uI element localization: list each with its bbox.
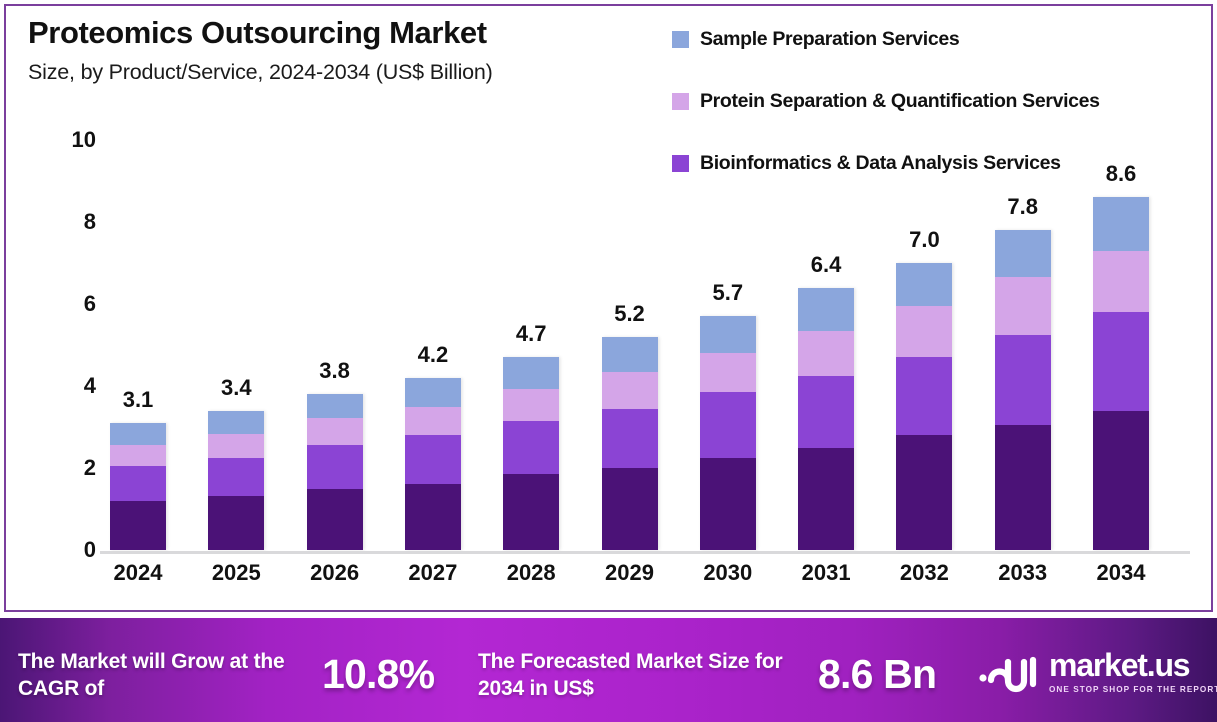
bar-segment[interactable] xyxy=(405,435,461,484)
forecast-label: The Forecasted Market Size for 2034 in U… xyxy=(478,648,788,703)
y-axis-tick-label: 6 xyxy=(30,291,96,317)
x-axis-tick-label: 2033 xyxy=(995,560,1051,586)
x-axis-tick-label: 2024 xyxy=(110,560,166,586)
bar-segment[interactable] xyxy=(700,458,756,550)
bar-segment[interactable] xyxy=(503,474,559,550)
legend-item-label: Sample Preparation Services xyxy=(700,28,959,51)
y-axis-tick-label: 0 xyxy=(30,537,96,563)
cagr-label: The Market will Grow at the CAGR of xyxy=(18,648,288,703)
page-title: Proteomics Outsourcing Market xyxy=(28,16,668,51)
bar-segment[interactable] xyxy=(896,357,952,435)
bar-segment[interactable] xyxy=(995,335,1051,425)
bar-segment[interactable] xyxy=(798,376,854,448)
bar-segment[interactable] xyxy=(208,458,264,496)
bar-segment[interactable] xyxy=(798,331,854,376)
bar-segment[interactable] xyxy=(896,435,952,550)
y-axis-tick-label: 10 xyxy=(30,127,96,153)
bar-stack[interactable] xyxy=(602,337,658,550)
plot-area: 3.13.43.84.24.75.25.76.47.07.88.6 xyxy=(100,140,1190,552)
bar-segment[interactable] xyxy=(798,288,854,331)
bar-segment[interactable] xyxy=(503,389,559,421)
bar-value-label: 3.1 xyxy=(123,387,154,413)
x-axis-tick-label: 2029 xyxy=(602,560,658,586)
bar-value-label: 4.2 xyxy=(418,342,449,368)
bar-segment[interactable] xyxy=(602,337,658,373)
bar-value-label: 3.4 xyxy=(221,375,252,401)
logo-tagline: ONE STOP SHOP FOR THE REPORTS xyxy=(1049,685,1217,694)
bar-segment[interactable] xyxy=(1093,411,1149,550)
bar-segment[interactable] xyxy=(995,277,1051,334)
bar-value-label: 5.2 xyxy=(614,301,645,327)
logo-wordmark: market.us xyxy=(1049,649,1217,681)
y-axis-labels: 0246810 xyxy=(30,140,96,550)
x-axis-tick-label: 2034 xyxy=(1093,560,1149,586)
bar-value-label: 3.8 xyxy=(319,358,350,384)
x-axis-tick-label: 2026 xyxy=(307,560,363,586)
bar-stack[interactable] xyxy=(700,316,756,550)
summary-banner: The Market will Grow at the CAGR of 10.8… xyxy=(0,618,1217,722)
x-axis-baseline xyxy=(100,551,1190,554)
bar-segment[interactable] xyxy=(208,434,264,458)
bar-stack[interactable] xyxy=(405,378,461,550)
bar-segment[interactable] xyxy=(798,448,854,551)
bar-segment[interactable] xyxy=(700,392,756,458)
bar-stack[interactable] xyxy=(110,423,166,550)
bar-segment[interactable] xyxy=(110,423,166,445)
bar-segment[interactable] xyxy=(110,466,166,501)
x-axis-tick-label: 2032 xyxy=(896,560,952,586)
brand-logo: market.us ONE STOP SHOP FOR THE REPORTS xyxy=(978,648,1217,694)
x-axis-tick-label: 2025 xyxy=(208,560,264,586)
bar-segment[interactable] xyxy=(110,445,166,466)
bar-segment[interactable] xyxy=(405,407,461,436)
legend-swatch-icon xyxy=(672,31,689,48)
infographic-root: Proteomics Outsourcing Market Size, by P… xyxy=(0,0,1217,722)
bar-segment[interactable] xyxy=(307,418,363,445)
bar-stack[interactable] xyxy=(307,394,363,550)
bar-segment[interactable] xyxy=(602,372,658,408)
bar-segment[interactable] xyxy=(208,411,264,434)
bar-stack[interactable] xyxy=(995,230,1051,550)
bar-segment[interactable] xyxy=(307,489,363,551)
bar-segment[interactable] xyxy=(405,378,461,407)
bar-segment[interactable] xyxy=(208,496,264,550)
bar-value-label: 4.7 xyxy=(516,321,547,347)
bar-segment[interactable] xyxy=(995,230,1051,277)
bar-segment[interactable] xyxy=(896,263,952,306)
x-axis-tick-label: 2028 xyxy=(503,560,559,586)
bar-stack[interactable] xyxy=(208,411,264,550)
bar-segment[interactable] xyxy=(602,468,658,550)
bar-value-label: 7.8 xyxy=(1007,194,1038,220)
x-axis-labels: 2024202520262027202820292030203120322033… xyxy=(100,560,1190,594)
market-us-logo-icon xyxy=(978,648,1040,694)
title-block: Proteomics Outsourcing Market Size, by P… xyxy=(28,16,668,85)
bar-segment[interactable] xyxy=(503,421,559,474)
y-axis-tick-label: 4 xyxy=(30,373,96,399)
y-axis-tick-label: 8 xyxy=(30,209,96,235)
bar-segment[interactable] xyxy=(1093,251,1149,313)
bar-value-label: 7.0 xyxy=(909,227,940,253)
bar-segment[interactable] xyxy=(1093,197,1149,250)
bar-segment[interactable] xyxy=(405,484,461,550)
bar-stack[interactable] xyxy=(896,263,952,550)
bar-segment[interactable] xyxy=(995,425,1051,550)
page-subtitle: Size, by Product/Service, 2024-2034 (US$… xyxy=(28,60,668,85)
legend-item-label: Protein Separation & Quantification Serv… xyxy=(700,90,1100,113)
bar-segment[interactable] xyxy=(896,306,952,357)
bar-stack[interactable] xyxy=(798,288,854,550)
legend-swatch-icon xyxy=(672,93,689,110)
legend-item[interactable]: Sample Preparation Services xyxy=(672,8,1212,70)
logo-text-block: market.us ONE STOP SHOP FOR THE REPORTS xyxy=(1049,649,1217,694)
bar-segment[interactable] xyxy=(307,394,363,418)
bar-segment[interactable] xyxy=(1093,312,1149,410)
forecast-value: 8.6 Bn xyxy=(818,651,936,698)
bar-segment[interactable] xyxy=(602,409,658,468)
bar-value-label: 8.6 xyxy=(1106,161,1137,187)
x-axis-tick-label: 2027 xyxy=(405,560,461,586)
bar-segment[interactable] xyxy=(503,357,559,389)
y-axis-tick-label: 2 xyxy=(30,455,96,481)
bar-segment[interactable] xyxy=(700,316,756,353)
bar-segment[interactable] xyxy=(700,353,756,392)
cagr-value: 10.8% xyxy=(322,651,434,698)
bar-value-label: 5.7 xyxy=(713,280,744,306)
bar-stack[interactable] xyxy=(503,357,559,550)
bar-segment[interactable] xyxy=(110,501,166,550)
bar-stack[interactable] xyxy=(1093,197,1149,550)
legend-item[interactable]: Protein Separation & Quantification Serv… xyxy=(672,70,1212,132)
bar-segment[interactable] xyxy=(307,445,363,488)
bar-series-container: 3.13.43.84.24.75.25.76.47.07.88.6 xyxy=(100,140,1190,550)
x-axis-tick-label: 2031 xyxy=(798,560,854,586)
x-axis-tick-label: 2030 xyxy=(700,560,756,586)
bar-value-label: 6.4 xyxy=(811,252,842,278)
